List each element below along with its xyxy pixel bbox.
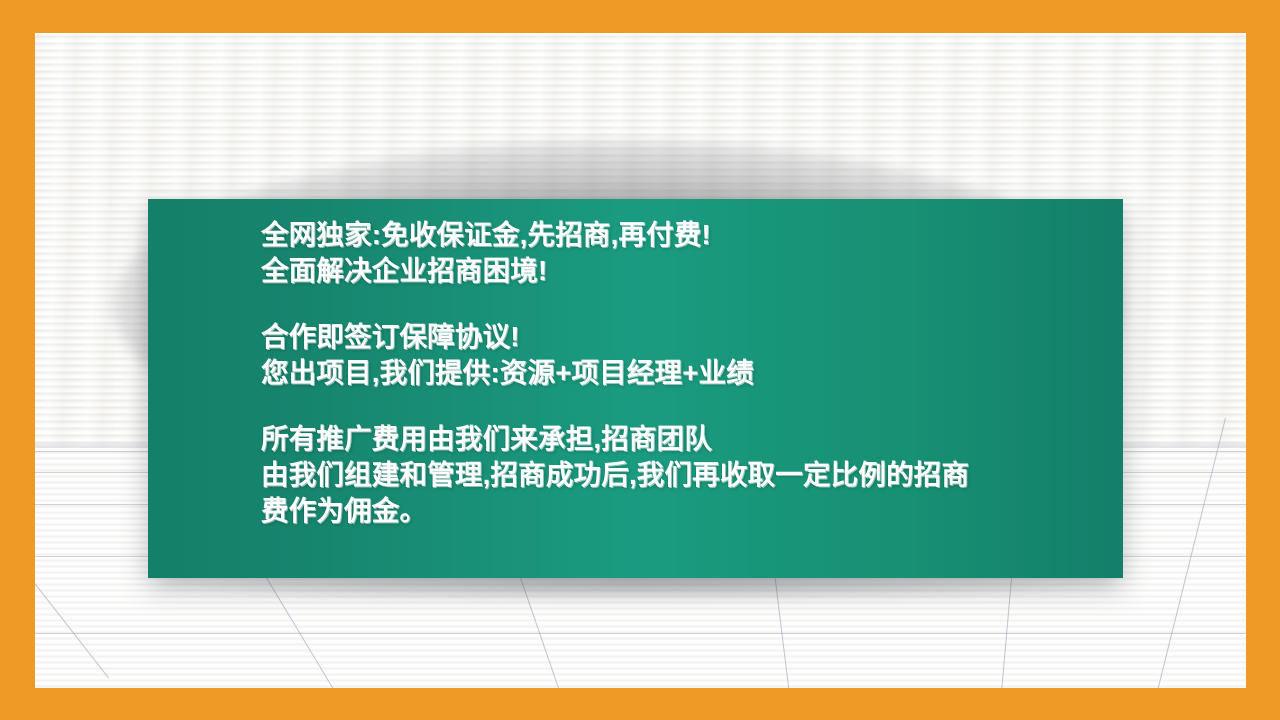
floor-perspective-line — [35, 418, 109, 679]
message-line: 全网独家:免收保证金,先招商,再付费! — [261, 217, 1109, 253]
message-line: 由我们组建和管理,招商成功后,我们再收取一定比例的招商 — [261, 457, 1109, 493]
message-paragraph: 全网独家:免收保证金,先招商,再付费! 全面解决企业招商困境! — [261, 217, 1109, 289]
message-line: 全面解决企业招商困境! — [261, 253, 1109, 289]
message-line: 费作为佣金。 — [261, 493, 1109, 529]
message-line: 合作即签订保障协议! — [261, 319, 1109, 355]
message-line: 您出项目,我们提供:资源+项目经理+业绩 — [261, 355, 1109, 391]
slide-canvas: 全网独家:免收保证金,先招商,再付费! 全面解决企业招商困境! 合作即签订保障协… — [0, 0, 1280, 720]
floor-perspective-line — [1145, 418, 1226, 688]
message-paragraph: 合作即签订保障协议! 您出项目,我们提供:资源+项目经理+业绩 — [261, 319, 1109, 391]
floor-seam — [35, 633, 1246, 634]
message-panel: 全网独家:免收保证金,先招商,再付费! 全面解决企业招商困境! 合作即签订保障协… — [148, 199, 1123, 578]
message-text-block: 全网独家:免收保证金,先招商,再付费! 全面解决企业招商困境! 合作即签订保障协… — [261, 217, 1109, 529]
message-line: 所有推广费用由我们来承担,招商团队 — [261, 421, 1109, 457]
message-paragraph: 所有推广费用由我们来承担,招商团队 由我们组建和管理,招商成功后,我们再收取一定… — [261, 421, 1109, 529]
